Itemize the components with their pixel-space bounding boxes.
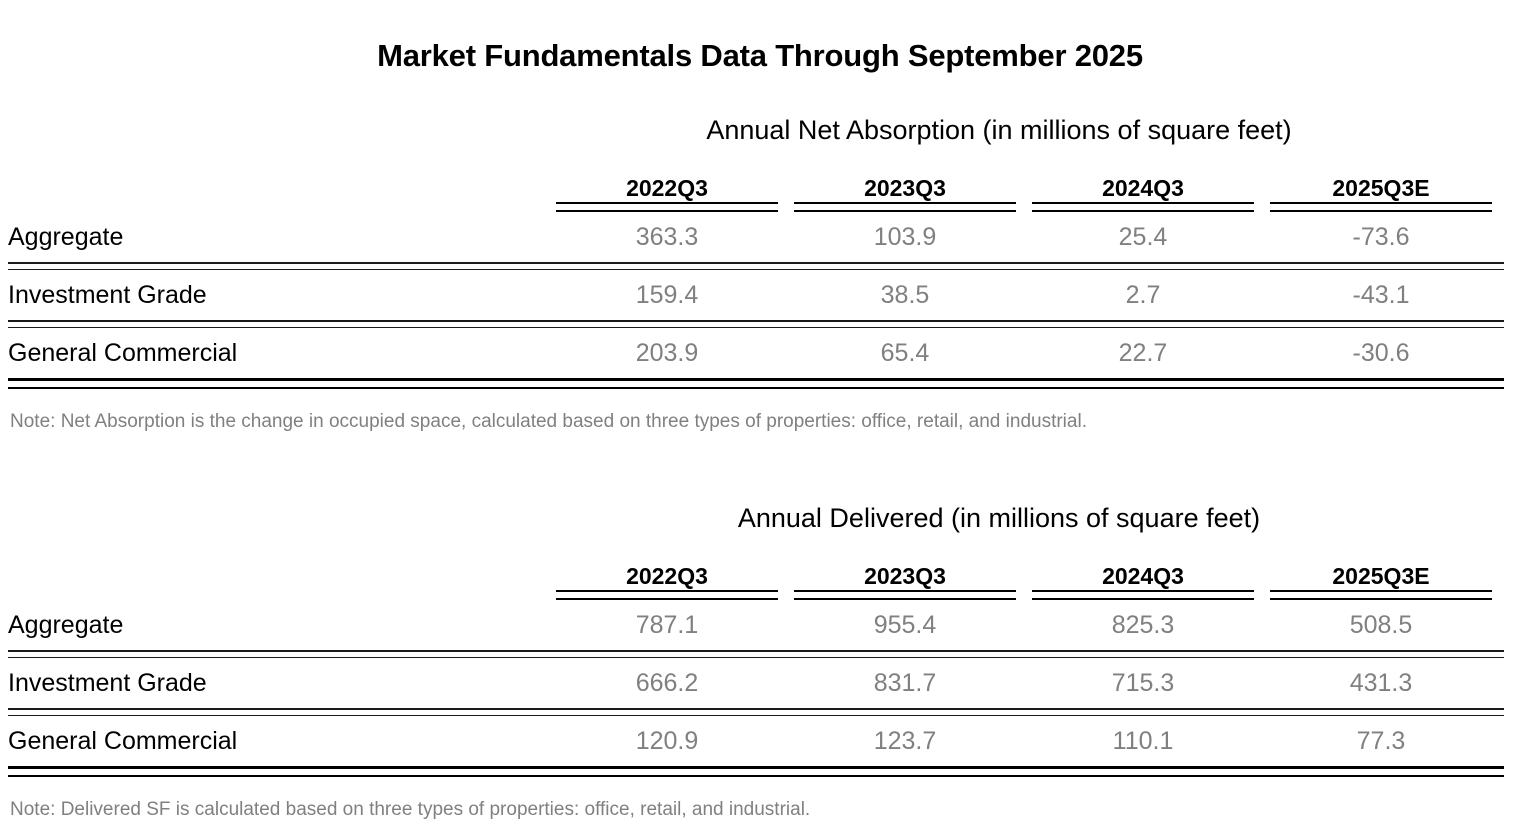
header-rule-row: [8, 202, 1504, 212]
header-rule: [548, 202, 786, 212]
table-caption: Annual Net Absorption (in millions of sq…: [8, 112, 1502, 148]
cell-value: 2.7: [1024, 270, 1262, 320]
header-rule: [1024, 590, 1262, 600]
header-rule-row: [8, 590, 1504, 600]
net-absorption-table: 2022Q3 2023Q3 2024Q3 2025Q3E Aggr: [8, 162, 1504, 389]
table-note: Note: Net Absorption is the change in oc…: [8, 411, 1502, 433]
row-separator: [8, 262, 1504, 270]
cell-value: 159.4: [548, 270, 786, 320]
row-separator: [8, 320, 1504, 328]
cell-value: 431.3: [1262, 658, 1500, 708]
header-corner-cell: [8, 550, 548, 590]
row-pad-cell: [1500, 716, 1504, 766]
column-header-2025q3e: 2025Q3E: [1262, 162, 1500, 202]
row-separator: [8, 708, 1504, 716]
cell-value: 77.3: [1262, 716, 1500, 766]
cell-value: 120.9: [548, 716, 786, 766]
header-rule: [548, 590, 786, 600]
cell-value: 831.7: [786, 658, 1024, 708]
table-header-row: 2022Q3 2023Q3 2024Q3 2025Q3E: [8, 162, 1504, 202]
cell-value: 65.4: [786, 328, 1024, 378]
column-header-2022q3: 2022Q3: [548, 162, 786, 202]
table-bottom-rule-cell: [8, 378, 1504, 389]
column-header-2023q3: 2023Q3: [786, 162, 1024, 202]
header-rule: [786, 590, 1024, 600]
document-page: Market Fundamentals Data Through Septemb…: [0, 0, 1520, 828]
row-label-aggregate: Aggregate: [8, 600, 548, 650]
row-separator-cell: [8, 708, 1504, 716]
cell-value: 203.9: [548, 328, 786, 378]
table-row: Investment Grade 159.4 38.5 2.7 -43.1: [8, 270, 1504, 320]
row-separator-cell: [8, 262, 1504, 270]
cell-value: 363.3: [548, 212, 786, 262]
header-rule: [1262, 202, 1500, 212]
table-caption: Annual Delivered (in millions of square …: [8, 500, 1502, 536]
cell-value: -43.1: [1262, 270, 1500, 320]
table-row: General Commercial 203.9 65.4 22.7 -30.6: [8, 328, 1504, 378]
header-rule: [786, 202, 1024, 212]
header-rule-blank: [8, 590, 548, 600]
column-header-2025q3e: 2025Q3E: [1262, 550, 1500, 590]
row-separator-cell: [8, 650, 1504, 658]
row-label-investment-grade: Investment Grade: [8, 658, 548, 708]
row-label-general-commercial: General Commercial: [8, 328, 548, 378]
cell-value: 825.3: [1024, 600, 1262, 650]
table-block-delivered: Annual Delivered (in millions of square …: [8, 500, 1502, 821]
table-bottom-rule: [8, 378, 1504, 389]
cell-value: 38.5: [786, 270, 1024, 320]
column-header-2022q3: 2022Q3: [548, 550, 786, 590]
cell-value: -30.6: [1262, 328, 1500, 378]
table-row: Investment Grade 666.2 831.7 715.3 431.3: [8, 658, 1504, 708]
cell-value: 103.9: [786, 212, 1024, 262]
column-header-2024q3: 2024Q3: [1024, 162, 1262, 202]
row-pad-cell: [1500, 600, 1504, 650]
cell-value: 25.4: [1024, 212, 1262, 262]
column-header-2024q3: 2024Q3: [1024, 550, 1262, 590]
cell-value: 123.7: [786, 716, 1024, 766]
table-header-row: 2022Q3 2023Q3 2024Q3 2025Q3E: [8, 550, 1504, 590]
cell-value: -73.6: [1262, 212, 1500, 262]
row-separator: [8, 650, 1504, 658]
header-rule-blank: [1500, 590, 1504, 600]
column-header-2023q3: 2023Q3: [786, 550, 1024, 590]
table-row: Aggregate 787.1 955.4 825.3 508.5: [8, 600, 1504, 650]
table-note: Note: Delivered SF is calculated based o…: [8, 799, 1502, 821]
header-pad-cell: [1500, 550, 1504, 590]
delivered-table: 2022Q3 2023Q3 2024Q3 2025Q3E Aggr: [8, 550, 1504, 777]
row-label-aggregate: Aggregate: [8, 212, 548, 262]
header-pad-cell: [1500, 162, 1504, 202]
header-rule: [1024, 202, 1262, 212]
header-rule: [1262, 590, 1500, 600]
header-rule-blank: [8, 202, 548, 212]
cell-value: 508.5: [1262, 600, 1500, 650]
row-pad-cell: [1500, 212, 1504, 262]
row-pad-cell: [1500, 658, 1504, 708]
table-bottom-rule-cell: [8, 766, 1504, 777]
row-pad-cell: [1500, 328, 1504, 378]
cell-value: 715.3: [1024, 658, 1262, 708]
row-label-investment-grade: Investment Grade: [8, 270, 548, 320]
page-title: Market Fundamentals Data Through Septemb…: [0, 38, 1520, 74]
cell-value: 955.4: [786, 600, 1024, 650]
table-row: Aggregate 363.3 103.9 25.4 -73.6: [8, 212, 1504, 262]
cell-value: 787.1: [548, 600, 786, 650]
row-label-general-commercial: General Commercial: [8, 716, 548, 766]
row-separator-cell: [8, 320, 1504, 328]
header-corner-cell: [8, 162, 548, 202]
cell-value: 110.1: [1024, 716, 1262, 766]
table-row: General Commercial 120.9 123.7 110.1 77.…: [8, 716, 1504, 766]
table-block-net-absorption: Annual Net Absorption (in millions of sq…: [8, 112, 1502, 433]
cell-value: 666.2: [548, 658, 786, 708]
cell-value: 22.7: [1024, 328, 1262, 378]
table-bottom-rule: [8, 766, 1504, 777]
header-rule-blank: [1500, 202, 1504, 212]
row-pad-cell: [1500, 270, 1504, 320]
